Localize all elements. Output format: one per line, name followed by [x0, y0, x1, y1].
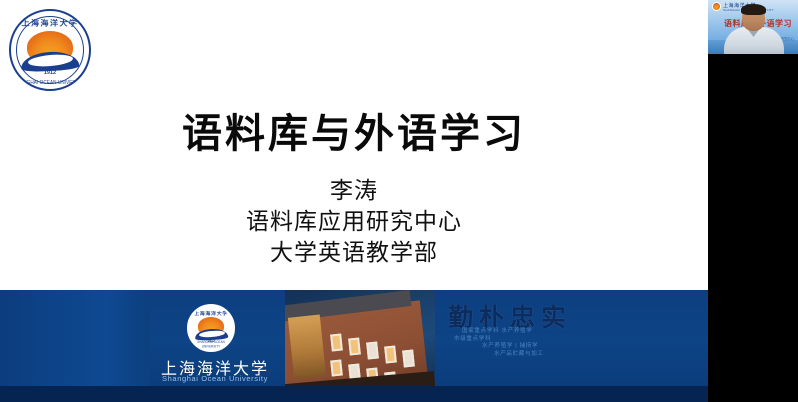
letterbox-below-video: [708, 54, 798, 402]
screen-root: 上海海洋大学 1912 SHANGHAI OCEAN UNIVERSITY 语料…: [0, 0, 798, 402]
motto-subtext-block: 国家重点学科 水产养殖学 市级重点学科 水产养殖学 | 捕捞学 水产品贮藏与加工: [452, 328, 642, 358]
photo-window: [330, 333, 343, 351]
photo-window: [348, 337, 361, 355]
slide-title: 语料库与外语学习: [0, 101, 708, 159]
photo-window: [384, 345, 397, 363]
banner-bottom-strip: [0, 386, 708, 402]
university-seal-icon: 上海海洋大学 1912 SHANGHAI OCEAN UNIVERSITY: [9, 9, 91, 91]
video-seal-icon: [712, 2, 721, 11]
banner-wordmark-english: Shanghai Ocean University: [155, 374, 275, 383]
photo-window: [366, 341, 379, 359]
motto-subtext-line: 国家重点学科 水产养殖学: [452, 328, 642, 336]
presenter-video-overlay[interactable]: 上海海洋大学 SHANGHAI OCEAN UNIVERSITY 语料库与外语学…: [708, 0, 798, 54]
presentation-slide: 上海海洋大学 1912 SHANGHAI OCEAN UNIVERSITY 语料…: [0, 0, 708, 402]
seal-arc-bottom-text: SHANGHAI OCEAN UNIVERSITY: [11, 80, 89, 86]
campus-building-photo: [285, 290, 435, 396]
slide-footer-banner: 上海海洋大学 1912 SHANGHAI OCEAN UNIVERSITY 上海…: [0, 290, 708, 402]
banner-seal-arc-bottom-text: SHANGHAI OCEAN UNIVERSITY: [189, 339, 233, 348]
banner-university-seal-icon: 上海海洋大学 1912 SHANGHAI OCEAN UNIVERSITY: [187, 304, 235, 352]
seal-arc-top-text: 上海海洋大学: [11, 19, 89, 29]
motto-subtext-line: 水产品贮藏与加工: [452, 351, 642, 359]
subtitle-line-author: 李涛: [0, 176, 708, 207]
subtitle-line-department: 大学英语教学部: [0, 238, 708, 269]
photo-window: [402, 349, 415, 367]
motto-subtext-line: 市级重点学科: [452, 336, 642, 344]
seal-year-text: 1912: [11, 70, 89, 76]
subtitle-line-center: 语料库应用研究中心: [0, 207, 708, 238]
slide-subtitle-block: 李涛 语料库应用研究中心 大学英语教学部: [0, 176, 708, 269]
motto-subtext-line: 水产养殖学 | 捕捞学: [452, 343, 642, 351]
photo-window: [330, 359, 343, 376]
photo-glass-curtain: [288, 314, 326, 379]
presenter-hair: [741, 4, 766, 15]
banner-seal-arc-top-text: 上海海洋大学: [189, 310, 233, 316]
